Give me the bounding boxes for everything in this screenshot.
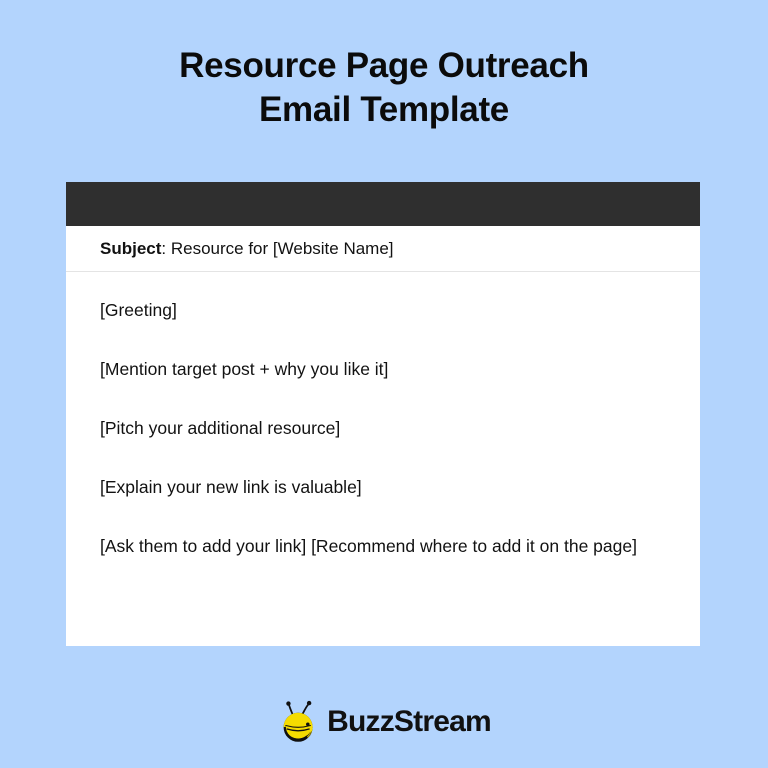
email-body-line: [Mention target post + why you like it] (100, 357, 640, 382)
email-body-line: [Pitch your additional resource] (100, 416, 640, 441)
email-subject-value: Resource for [Website Name] (171, 239, 394, 258)
poster-canvas: Resource Page Outreach Email Template Su… (0, 0, 768, 768)
bee-icon (277, 700, 321, 744)
email-body-line: [Greeting] (100, 298, 640, 323)
email-subject-row: Subject: Resource for [Website Name] (66, 226, 700, 272)
brand-logo: BuzzStream (0, 700, 768, 744)
email-subject-label: Subject (100, 239, 161, 258)
email-subject-text: Subject: Resource for [Website Name] (100, 238, 394, 260)
email-card-topbar (66, 182, 700, 226)
page-title: Resource Page Outreach Email Template (0, 44, 768, 132)
page-title-line-2: Email Template (0, 88, 768, 132)
email-body-line: [Ask them to add your link] [Recommend w… (100, 534, 640, 559)
email-subject-separator: : (161, 239, 170, 258)
page-title-line-1: Resource Page Outreach (0, 44, 768, 88)
brand-name: BuzzStream (327, 707, 491, 737)
email-body-line: [Explain your new link is valuable] (100, 475, 640, 500)
email-body: [Greeting] [Mention target post + why yo… (66, 272, 700, 559)
email-template-card: Subject: Resource for [Website Name] [Gr… (66, 182, 700, 646)
